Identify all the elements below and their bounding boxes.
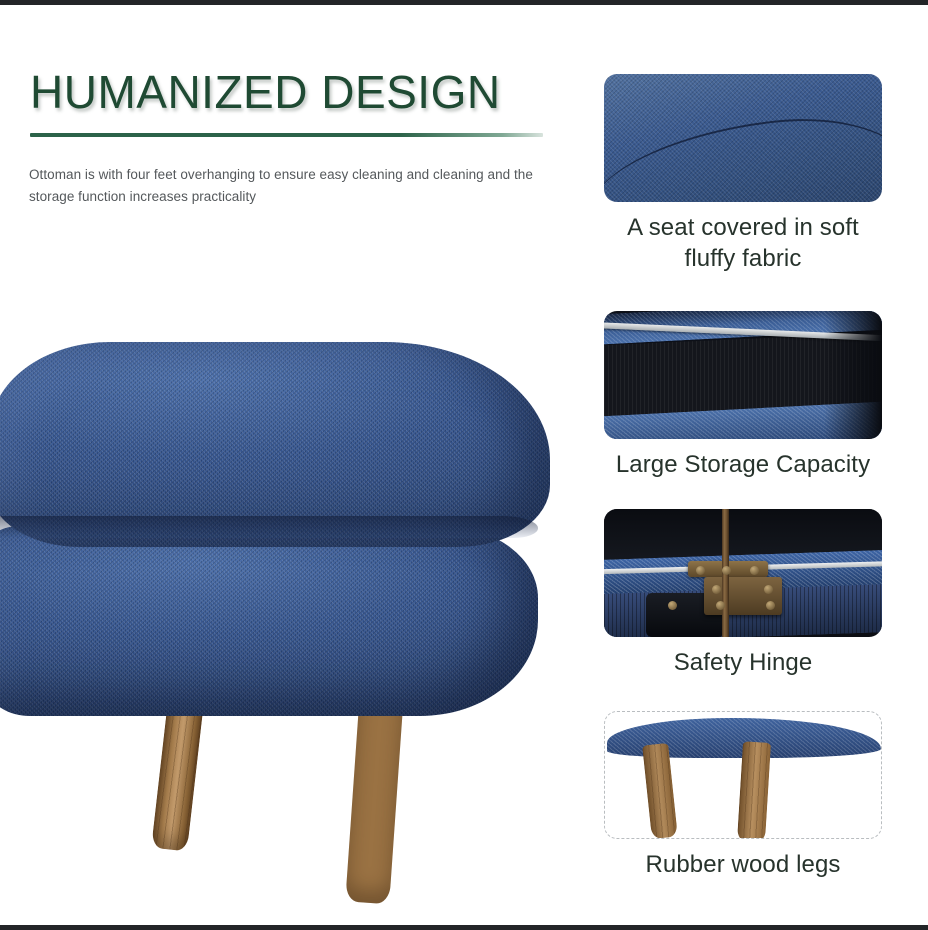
feature-caption-fabric-seat: A seat covered in soft fluffy fabric	[604, 212, 882, 274]
subtitle-description: Ottoman is with four feet overhanging to…	[29, 164, 549, 208]
feature-image-rubber-wood-legs	[604, 711, 882, 839]
hero-ottoman-seam	[0, 516, 538, 538]
feature-caption-storage-capacity: Large Storage Capacity	[604, 449, 882, 480]
hinge-screw-6	[716, 601, 725, 610]
title-divider	[30, 133, 543, 137]
feature-rubber-wood-legs: Rubber wood legs	[604, 711, 882, 880]
fabric-seam-line	[604, 104, 882, 202]
feature-image-storage-capacity	[604, 311, 882, 439]
storage-shadow-right	[824, 311, 882, 439]
hero-leg-back	[345, 707, 402, 905]
hinge-screw-7	[766, 601, 775, 610]
hinge-screw-2	[722, 566, 731, 575]
feature-caption-rubber-wood-legs: Rubber wood legs	[604, 849, 882, 880]
legs-wood-leg-right	[737, 741, 771, 839]
hero-product-image	[0, 330, 565, 890]
feature-caption-safety-hinge: Safety Hinge	[604, 647, 882, 678]
hinge-screw-8	[668, 601, 677, 610]
feature-image-safety-hinge	[604, 509, 882, 637]
feature-image-fabric-seat	[604, 74, 882, 202]
product-feature-graphic: HUMANIZED DESIGN Ottoman is with four fe…	[0, 0, 928, 930]
feature-fabric-seat: A seat covered in soft fluffy fabric	[604, 74, 882, 274]
letterbox-bottom	[0, 925, 928, 930]
feature-safety-hinge: Safety Hinge	[604, 509, 882, 678]
letterbox-top	[0, 0, 928, 5]
page-title: HUMANIZED DESIGN	[30, 66, 501, 118]
hinge-screw-4	[712, 585, 721, 594]
feature-storage-capacity: Large Storage Capacity	[604, 311, 882, 480]
hinge-screw-1	[696, 566, 705, 575]
hinge-screw-5	[764, 585, 773, 594]
hero-ottoman-base	[0, 526, 538, 716]
hinge-screw-3	[750, 566, 759, 575]
